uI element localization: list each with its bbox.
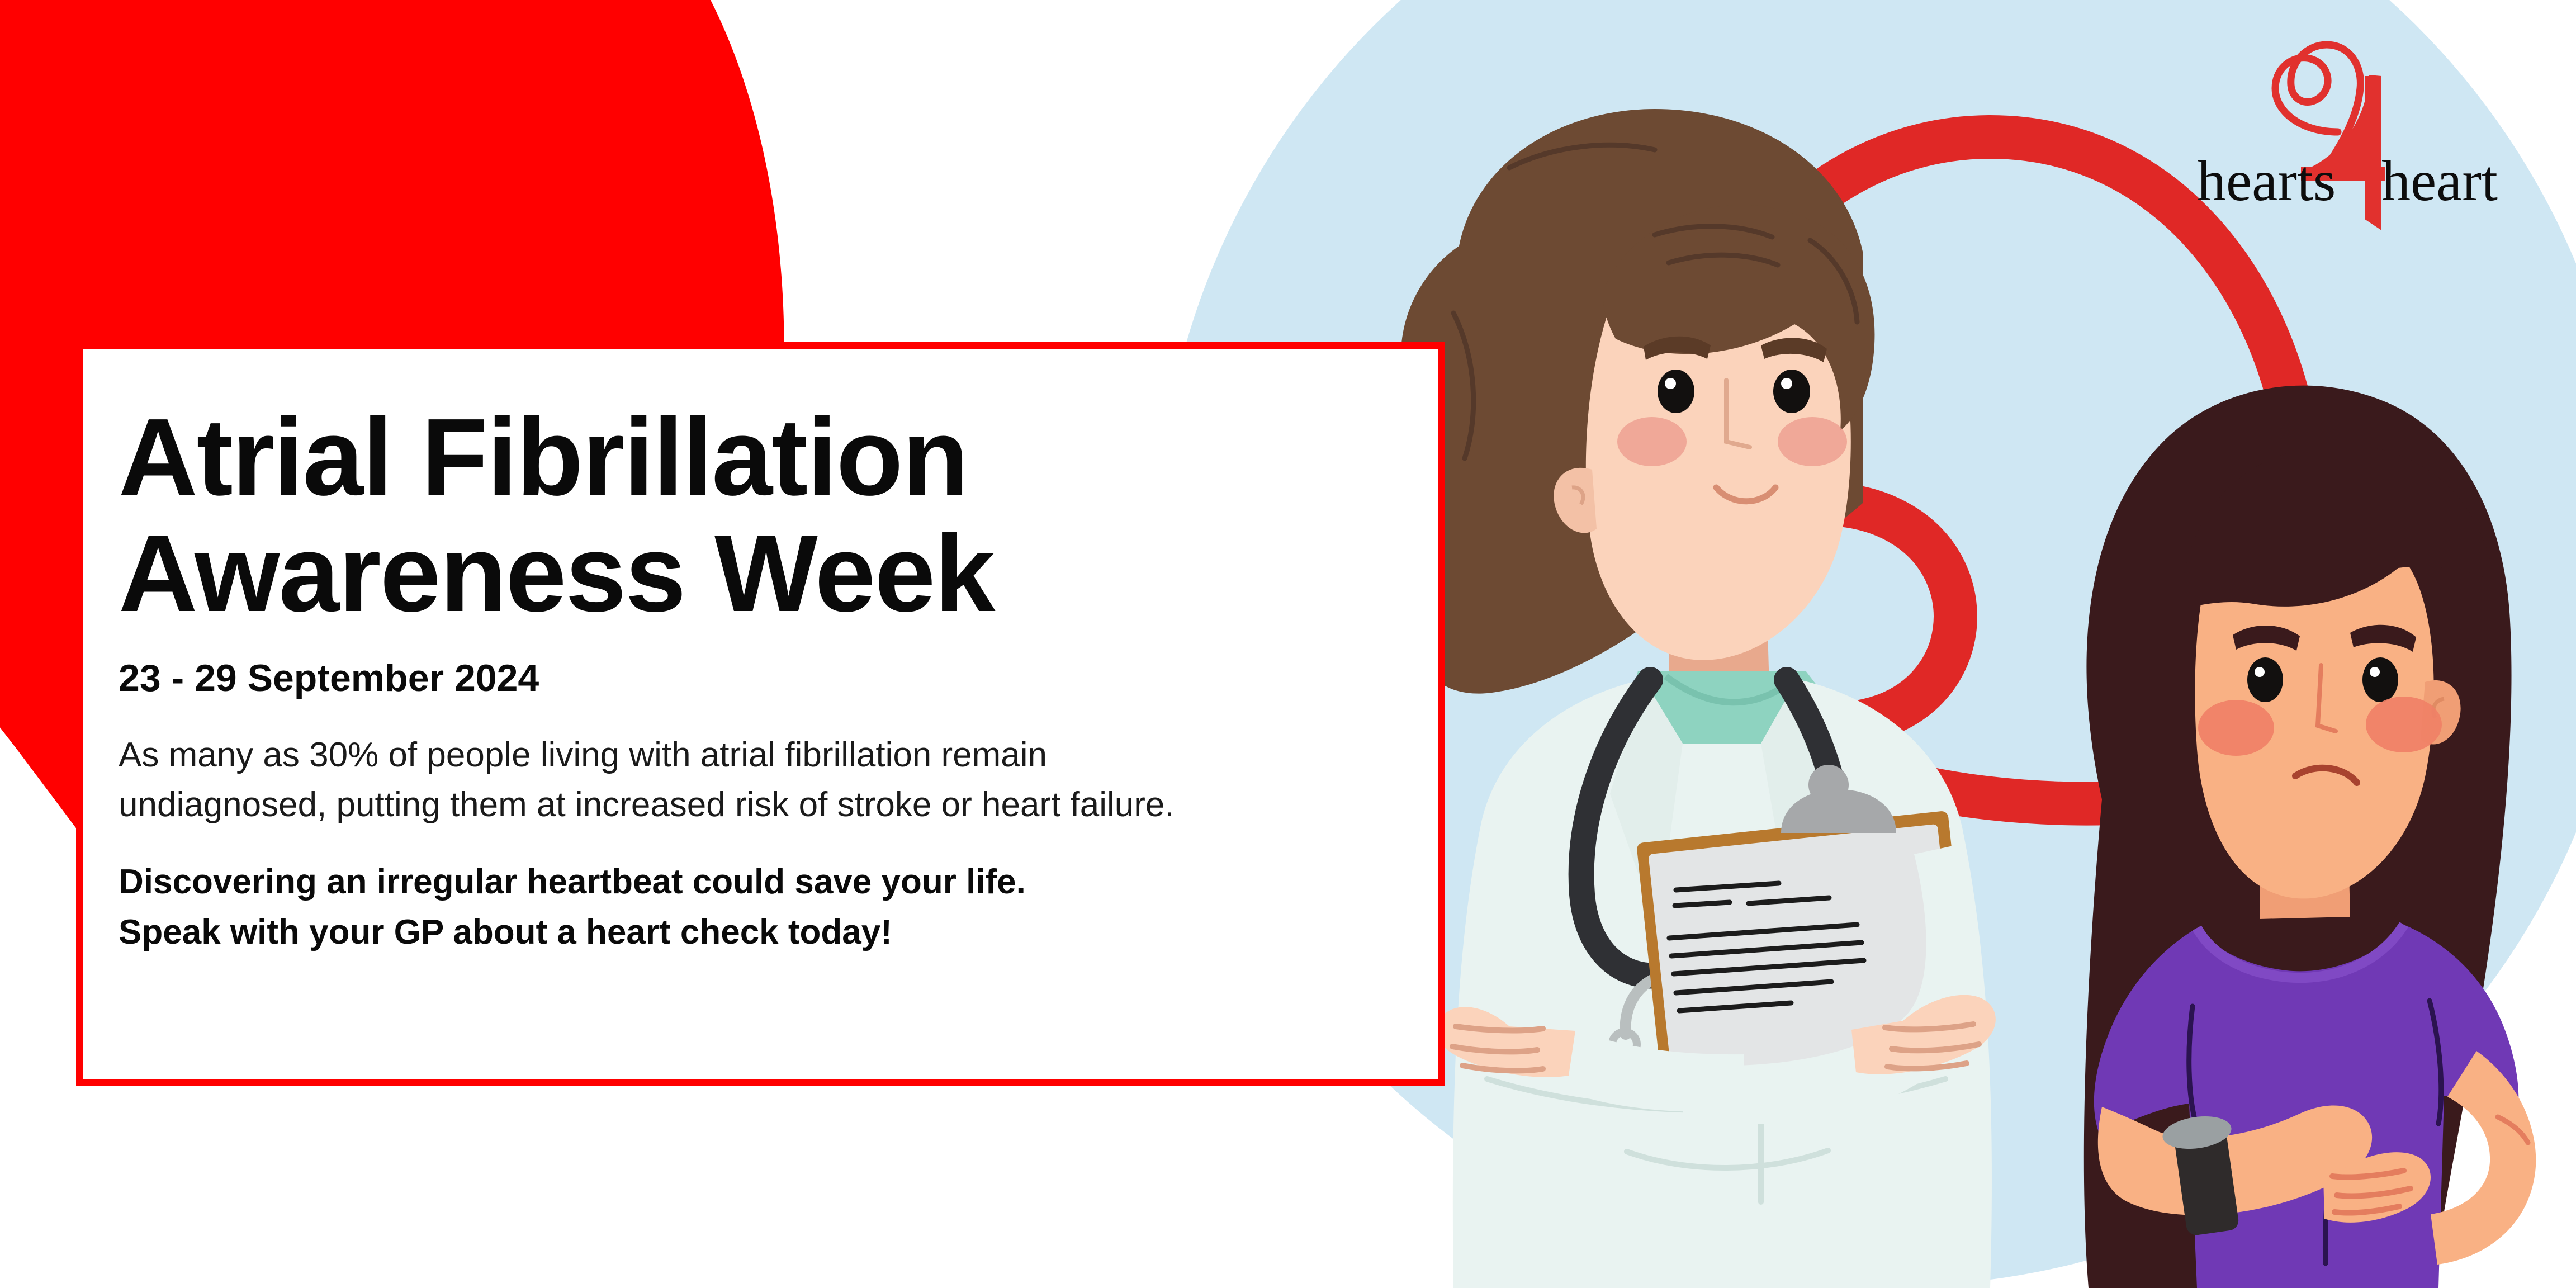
doctor-eye-right-glint <box>1781 378 1792 389</box>
body-copy: As many as 30% of people living with atr… <box>119 730 1415 831</box>
awareness-week-banner: Atrial Fibrillation Awareness Week 23 - … <box>0 0 2576 1288</box>
doctor-eye-left-glint <box>1665 378 1676 389</box>
patient-blush-left <box>2198 700 2274 756</box>
logo-word-left: hearts <box>2197 149 2336 213</box>
hearts4heart-logo[interactable]: hearts heart <box>2197 22 2544 235</box>
headline-card: Atrial Fibrillation Awareness Week 23 - … <box>76 342 1445 1086</box>
patient-eye-right <box>2362 657 2398 702</box>
doctor-eye-left <box>1658 370 1694 413</box>
event-date: 23 - 29 September 2024 <box>119 656 1415 700</box>
patient-eye-right-glint <box>2370 667 2380 677</box>
patient-eye-left <box>2247 657 2283 702</box>
logo-word-right: heart <box>2381 149 2498 213</box>
patient-blush-right <box>2366 697 2442 752</box>
doctor-eye-right <box>1773 370 1810 413</box>
doctor-blush-right <box>1778 417 1847 466</box>
call-to-action-copy: Discovering an irregular heartbeat could… <box>119 857 1415 958</box>
logo-artwork: hearts heart <box>2197 22 2544 235</box>
patient-eye-left-glint <box>2255 667 2265 677</box>
patient-figure <box>2084 386 2536 1288</box>
doctor-blush-left <box>1617 417 1687 466</box>
page-title: Atrial Fibrillation Awareness Week <box>119 399 1415 632</box>
